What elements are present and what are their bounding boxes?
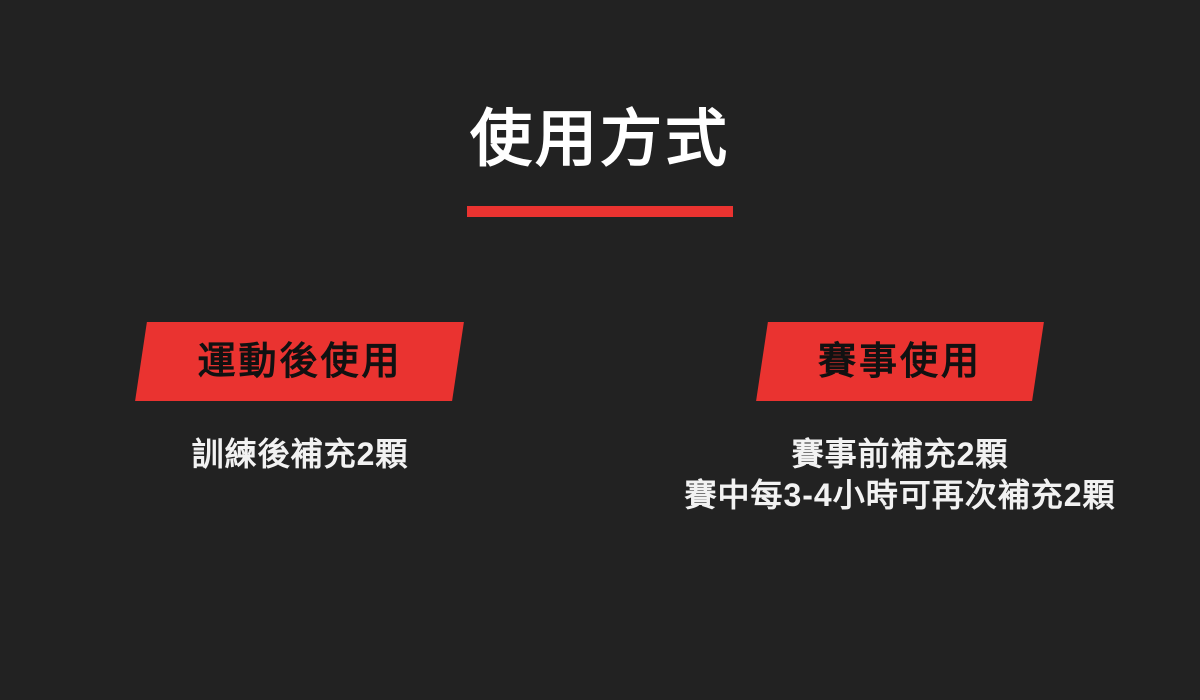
detail-line: 賽中每3-4小時可再次補充2顆 [684,475,1115,516]
detail-line: 賽事前補充2顆 [684,434,1115,475]
details-race-day: 賽事前補充2顆 賽中每3-4小時可再次補充2顆 [684,434,1115,516]
usage-column-race-day: 賽事使用 賽事前補充2顆 賽中每3-4小時可再次補充2顆 [600,322,1200,516]
badge-label-post-workout: 運動後使用 [197,343,402,381]
usage-column-post-workout: 運動後使用 訓練後補充2顆 [0,322,600,475]
detail-line: 訓練後補充2顆 [192,434,409,475]
page-title: 使用方式 [0,104,1200,176]
badge-race-day: 賽事使用 [762,322,1038,401]
usage-columns: 運動後使用 訓練後補充2顆 賽事使用 賽事前補充2顆 賽中每3-4小時可再次補充… [0,322,1200,516]
badge-label-race-day: 賽事使用 [818,343,982,381]
usage-instructions-slide: 使用方式 運動後使用 訓練後補充2顆 賽事使用 賽事前補充2顆 賽中每3-4小時… [0,0,1200,700]
heading-block: 使用方式 [0,104,1200,217]
badge-post-workout: 運動後使用 [141,322,458,401]
title-underline-rule [467,206,733,217]
details-post-workout: 訓練後補充2顆 [192,434,409,475]
